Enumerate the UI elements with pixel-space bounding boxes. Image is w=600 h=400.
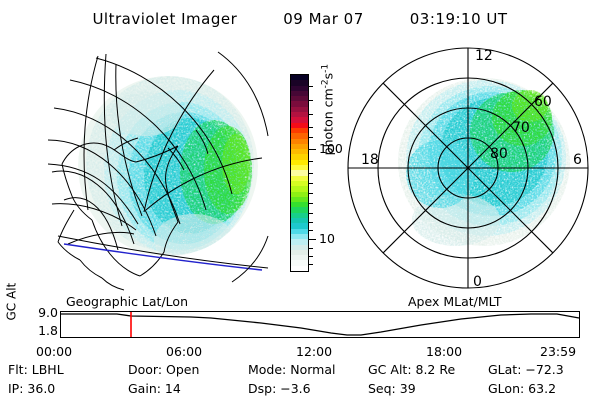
mlt-label-12: 12 (475, 48, 493, 64)
right-panel-caption: Apex MLat/MLT (408, 294, 502, 309)
status-mode: Mode: Normal (248, 362, 335, 377)
status-glat: GLat: −72.3 (488, 362, 564, 377)
colorbar-minor-tick (308, 203, 313, 204)
time-tick-4: 23:59 (540, 344, 576, 359)
colorbar-major-tick (308, 239, 316, 240)
colorbar-tick-label: 10 (319, 233, 335, 246)
observation-date: 09 Mar 07 (283, 10, 364, 28)
colorbar-minor-tick (308, 248, 313, 249)
status-seq: Seq: 39 (368, 381, 416, 396)
left-panel-caption: Geographic Lat/Lon (66, 294, 188, 309)
colorbar-minor-tick (308, 100, 313, 101)
orbit-plot-frame[interactable] (60, 311, 580, 338)
colorbar-axis-label: photon cm-2s-1 (320, 40, 335, 180)
status-gain: Gain: 14 (128, 381, 181, 396)
geographic-panel (18, 44, 270, 294)
mlt-label-6: 6 (573, 152, 582, 168)
colorbar-minor-tick (308, 183, 313, 184)
colorbar-minor-tick (308, 230, 313, 231)
status-block: Flt: LBHL Door: Open Mode: Normal GC Alt… (0, 362, 600, 400)
gc-alt-axis-label: GC Alt (4, 306, 20, 319)
status-row-1: Flt: LBHL Door: Open Mode: Normal GC Alt… (0, 362, 600, 381)
colorbar-tick-label: 100 (319, 143, 343, 156)
mlt-spokes (348, 48, 588, 288)
time-tick-1: 06:00 (166, 344, 202, 359)
altitude-curve (61, 314, 579, 335)
status-glon: GLon: 63.2 (488, 381, 556, 396)
status-row-2: IP: 36.0 Gain: 14 Dsp: −3.6 Seq: 39 GLon… (0, 381, 600, 400)
mlt-label-0: 0 (473, 274, 482, 290)
status-gc-alt: GC Alt: 8.2 Re (368, 362, 455, 377)
time-axis: 00:00 06:00 12:00 18:00 23:59 (0, 344, 600, 360)
colorbar: photon cm-2s-1 10010 (262, 44, 342, 296)
colorbar-minor-tick (308, 127, 313, 128)
colorbar-minor-tick (308, 264, 313, 265)
gc-alt-tick-labels: 9.0 1.8 (22, 308, 58, 342)
colorbar-minor-tick (308, 137, 313, 138)
instrument-name: Ultraviolet Imager (92, 10, 237, 28)
status-ip: IP: 36.0 (8, 381, 55, 396)
gc-alt-tick-low: 1.8 (38, 325, 58, 338)
colorbar-band (291, 266, 308, 271)
mlt-label-18: 18 (361, 152, 379, 168)
observation-time: 03:19:10 UT (410, 10, 508, 28)
orbit-altitude-plot: GC Alt 9.0 1.8 (0, 308, 600, 342)
apex-polar-panel: 12 6 0 18 60 70 80 (344, 44, 594, 294)
gc-alt-tick-high: 9.0 (38, 307, 58, 320)
time-tick-2: 12:00 (296, 344, 332, 359)
colorbar-minor-tick (308, 114, 313, 115)
time-tick-0: 00:00 (36, 344, 72, 359)
mlat-label-60: 60 (534, 94, 552, 110)
mlat-label-70: 70 (512, 120, 530, 136)
title-bar: Ultraviolet Imager 09 Mar 07 03:19:10 UT (0, 6, 600, 32)
colorbar-gradient (290, 74, 309, 272)
time-tick-3: 18:00 (426, 344, 462, 359)
status-filter: Flt: LBHL (8, 362, 64, 377)
colorbar-major-tick (308, 149, 316, 150)
colorbar-minor-tick (308, 86, 313, 87)
mlat-label-80: 80 (490, 146, 508, 162)
colorbar-minor-tick (308, 256, 313, 257)
colorbar-minor-tick (308, 173, 313, 174)
aurora-emission-left (78, 76, 258, 266)
status-door: Door: Open (128, 362, 199, 377)
colorbar-minor-tick (308, 213, 313, 214)
colorbar-minor-tick (308, 193, 313, 194)
status-dsp: Dsp: −3.6 (248, 381, 311, 396)
colorbar-minor-tick (308, 222, 313, 223)
colorbar-minor-tick (308, 161, 313, 162)
